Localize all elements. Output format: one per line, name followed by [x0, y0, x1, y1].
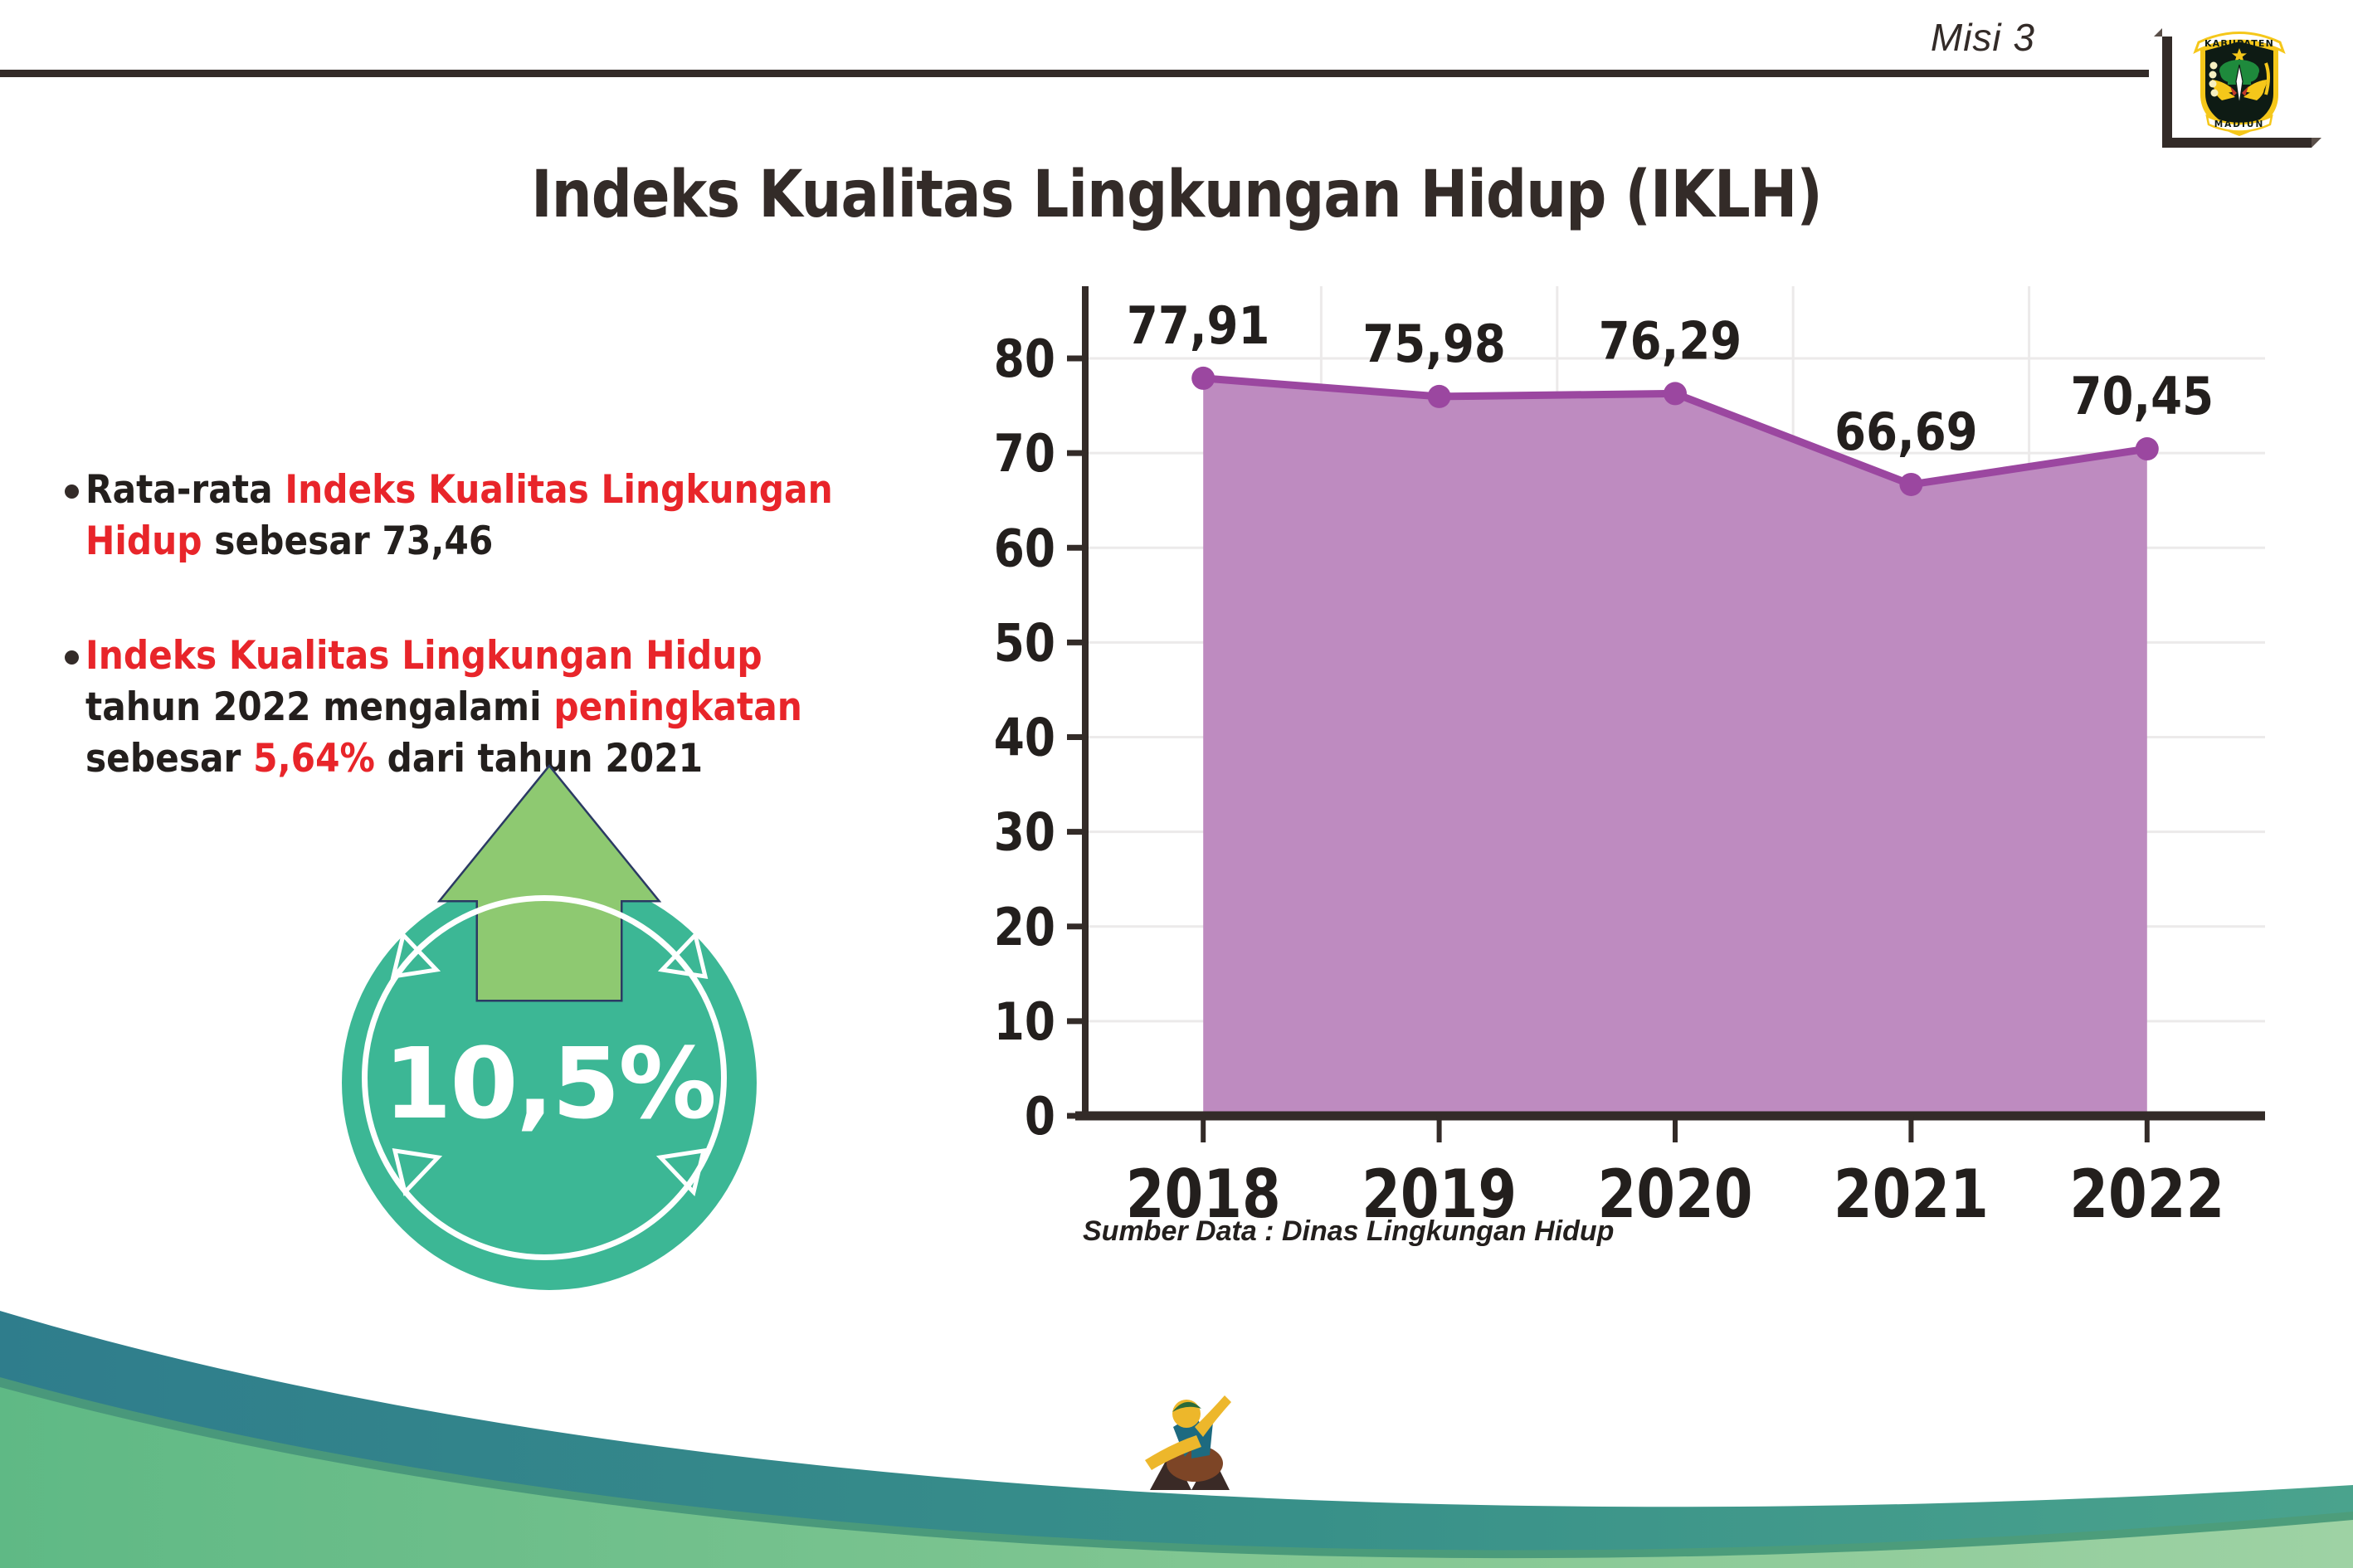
x-tick-label: 2022 [2069, 1156, 2224, 1233]
data-label: 66,69 [1834, 402, 1978, 462]
data-point [1899, 473, 1922, 496]
increase-badge: 10,5% [325, 759, 773, 1224]
svg-text:KABUPATEN: KABUPATEN [2204, 38, 2274, 49]
y-tick-label: 60 [994, 518, 1055, 578]
page-title: Indeks Kualitas Lingkungan Hidup (IKLH) [141, 158, 2212, 232]
statistics-dancer-logo-icon [1143, 1389, 1235, 1497]
iklh-area-chart: 77,9175,9876,2966,6970,45010203040506070… [987, 286, 2282, 1282]
y-tick-label: 0 [1025, 1086, 1055, 1147]
misi-label: Misi 3 [1931, 15, 2035, 60]
data-label: 70,45 [2071, 367, 2214, 426]
summary-bullets: Rata-rata Indeks Kualitas Lingkungan Hid… [65, 465, 969, 785]
logo-bracket-vertical [2162, 37, 2172, 148]
data-label: 75,98 [1362, 314, 1506, 374]
kabupaten-madiun-crest-icon: KABUPATEN MADIUN [2187, 18, 2292, 143]
source-note: Sumber Data : Dinas Lingkungan Hidup [1083, 1215, 1614, 1248]
y-tick-label: 70 [994, 423, 1055, 484]
bullet-dot-icon [65, 650, 79, 665]
y-tick-label: 50 [994, 613, 1055, 674]
bullet-dot-icon [65, 485, 79, 499]
badge-corner-markers [325, 759, 773, 1224]
bullet-run: Rata-rata [85, 467, 285, 513]
bullet-run: sebesar 73,46 [202, 519, 494, 564]
footer-caption: Media Infografis Data Statistik Sektoral… [1226, 1426, 2304, 1472]
y-tick-label: 30 [994, 802, 1055, 863]
y-tick-label: 80 [994, 329, 1055, 389]
data-label: 76,29 [1599, 311, 1742, 371]
y-tick-label: 40 [994, 708, 1055, 768]
y-tick-label: 20 [994, 897, 1055, 957]
chart-canvas: 77,9175,9876,2966,6970,45010203040506070… [987, 286, 2282, 1282]
svg-text:MADIUN: MADIUN [2214, 119, 2265, 129]
bullet-run: sebesar [85, 736, 253, 782]
data-label: 77,91 [1127, 296, 1270, 356]
data-point [2136, 437, 2159, 460]
x-tick-label: 2020 [1598, 1156, 1753, 1233]
slide-canvas: Misi 3 KABUPATEN [0, 0, 2353, 1568]
list-item: Rata-rata Indeks Kualitas Lingkungan Hid… [65, 465, 969, 567]
data-point [1191, 367, 1215, 390]
data-point [1664, 382, 1687, 405]
area-fill [1203, 378, 2147, 1116]
bullet-run: peningkatan [553, 684, 802, 730]
x-tick-label: 2021 [1834, 1156, 1989, 1233]
bullet-run: Indeks Kualitas Lingkungan Hidup [85, 633, 762, 679]
data-point [1428, 385, 1451, 408]
badge-value: 10,5% [342, 1026, 757, 1141]
bullet-text-0: Rata-rata Indeks Kualitas Lingkungan Hid… [85, 465, 881, 567]
bullet-run: tahun 2022 mengalami [85, 684, 553, 730]
header-rule [0, 70, 2149, 77]
y-tick-label: 10 [994, 991, 1055, 1052]
